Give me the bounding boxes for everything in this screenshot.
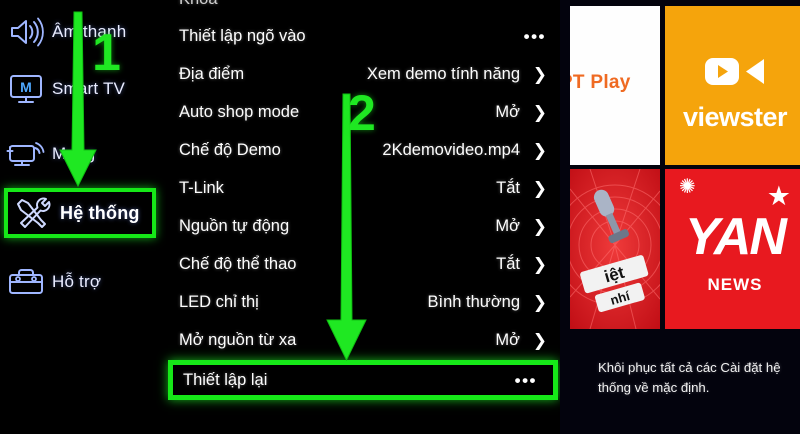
settings-row-value: Bình thường xyxy=(427,293,520,312)
star-icon: ★ xyxy=(767,183,791,210)
app-tile-label: YAN xyxy=(685,211,785,263)
sidebar-item-ho-tro[interactable]: Hỗ trợ xyxy=(0,254,166,310)
settings-row-mo-nguon-tu-xa[interactable]: Mở nguồn từ xa Mở ❯ xyxy=(166,321,560,359)
chevron-right-icon[interactable]: ❯ xyxy=(533,104,547,121)
settings-row-label: Chế độ Demo xyxy=(179,141,281,160)
chevron-right-icon[interactable]: ❯ xyxy=(533,66,547,83)
settings-row-label: Chế độ thể thao xyxy=(179,255,296,274)
settings-row-led-chi-thi[interactable]: LED chỉ thị Bình thường ❯ xyxy=(166,283,560,321)
settings-row-value: Xem demo tính năng xyxy=(367,65,520,84)
sidebar-item-am-thanh[interactable]: Âm thanh xyxy=(0,4,166,60)
settings-row-value: Mở xyxy=(495,331,520,350)
sidebar: Âm thanh M Smart TV xyxy=(0,0,166,434)
settings-row-auto-shop-mode[interactable]: Auto shop mode Mở ❯ xyxy=(166,93,560,131)
microphone-artwork: iệt nhí xyxy=(570,169,660,329)
sidebar-item-label: Âm thanh xyxy=(52,22,126,42)
chevron-right-icon[interactable]: ❯ xyxy=(533,218,547,235)
settings-row-label: Địa điểm xyxy=(179,65,244,84)
settings-row-dia-diem[interactable]: Địa điểm Xem demo tính năng ❯ xyxy=(166,55,560,93)
settings-row-label: Mở nguồn từ xa xyxy=(179,331,296,350)
chevron-right-icon[interactable]: ❯ xyxy=(533,332,547,349)
settings-row-label: Nguồn tự động xyxy=(179,217,289,236)
svg-text:M: M xyxy=(20,79,32,95)
speaker-icon xyxy=(0,10,52,54)
settings-row-che-do-the-thao[interactable]: Chế độ thể thao Tắt ❯ xyxy=(166,245,560,283)
app-tiles-panel: FPT Play viewster xyxy=(560,0,800,434)
settings-row-t-link[interactable]: T-Link Tắt ❯ xyxy=(166,169,560,207)
settings-row-label: LED chỉ thị xyxy=(179,293,259,312)
viewster-play-icon xyxy=(704,54,766,93)
settings-row-label: T-Link xyxy=(179,179,224,198)
sidebar-item-label: Mạng xyxy=(52,144,95,164)
chevron-right-icon[interactable]: ❯ xyxy=(533,180,547,197)
tools-icon xyxy=(8,191,60,235)
settings-row-che-do-demo[interactable]: Chế độ Demo 2Kdemovideo.mp4 ❯ xyxy=(166,131,560,169)
settings-row-thiet-lap-ngo-vao[interactable]: Thiết lập ngõ vào ••• xyxy=(166,17,560,55)
system-settings-list: Khóa Thiết lập ngõ vào ••• Địa điểm Xem … xyxy=(166,0,560,434)
app-tile-sublabel: NEWS xyxy=(708,275,763,295)
sidebar-item-smart-tv[interactable]: M Smart TV xyxy=(0,61,166,117)
toolbox-icon xyxy=(0,260,52,304)
app-tile-fpt-play[interactable]: FPT Play xyxy=(570,6,660,165)
network-tv-icon xyxy=(0,132,52,176)
sidebar-item-label: Hệ thống xyxy=(60,203,140,224)
more-options-icon[interactable]: ••• xyxy=(515,372,537,389)
snowflake-icon: ✺ xyxy=(679,177,696,197)
settings-row-thiet-lap-lai[interactable]: Thiết lập lại ••• xyxy=(168,360,558,400)
settings-row-value: 2Kdemovideo.mp4 xyxy=(382,141,520,160)
app-tile-label: viewster xyxy=(683,102,787,133)
sidebar-item-label: Hỗ trợ xyxy=(52,272,101,292)
app-tile-label: FPT Play xyxy=(570,72,631,94)
settings-row-label: Khóa xyxy=(179,0,218,9)
settings-row-value: Mở xyxy=(495,103,520,122)
sidebar-item-he-thong[interactable]: Hệ thống xyxy=(4,188,156,238)
settings-row-value: Mở xyxy=(495,217,520,236)
app-tile-giong-hat-viet[interactable]: iệt nhí xyxy=(570,169,660,329)
app-tile-yan-news[interactable]: ✺ ★ YAN NEWS xyxy=(665,169,800,329)
settings-row-value: Tắt xyxy=(496,255,520,274)
sidebar-item-mang[interactable]: Mạng xyxy=(0,126,166,182)
monitor-m-icon: M xyxy=(0,67,52,111)
tv-settings-screen: Âm thanh M Smart TV xyxy=(0,0,800,434)
settings-row-value: Tắt xyxy=(496,179,520,198)
settings-row-label: Auto shop mode xyxy=(179,103,299,122)
more-options-icon[interactable]: ••• xyxy=(524,28,546,45)
chevron-right-icon[interactable]: ❯ xyxy=(533,256,547,273)
chevron-right-icon[interactable]: ❯ xyxy=(533,142,547,159)
sidebar-item-label: Smart TV xyxy=(52,79,125,99)
reset-description-text: Khôi phục tất cả các Cài đặt hệ thống về… xyxy=(598,358,794,399)
settings-row-label: Thiết lập ngõ vào xyxy=(179,27,306,46)
settings-row-label: Thiết lập lại xyxy=(183,371,267,390)
settings-row-nguon-tu-dong[interactable]: Nguồn tự động Mở ❯ xyxy=(166,207,560,245)
app-tile-viewster[interactable]: viewster xyxy=(665,6,800,165)
chevron-right-icon[interactable]: ❯ xyxy=(533,294,547,311)
settings-row-khoa[interactable]: Khóa xyxy=(166,0,560,18)
